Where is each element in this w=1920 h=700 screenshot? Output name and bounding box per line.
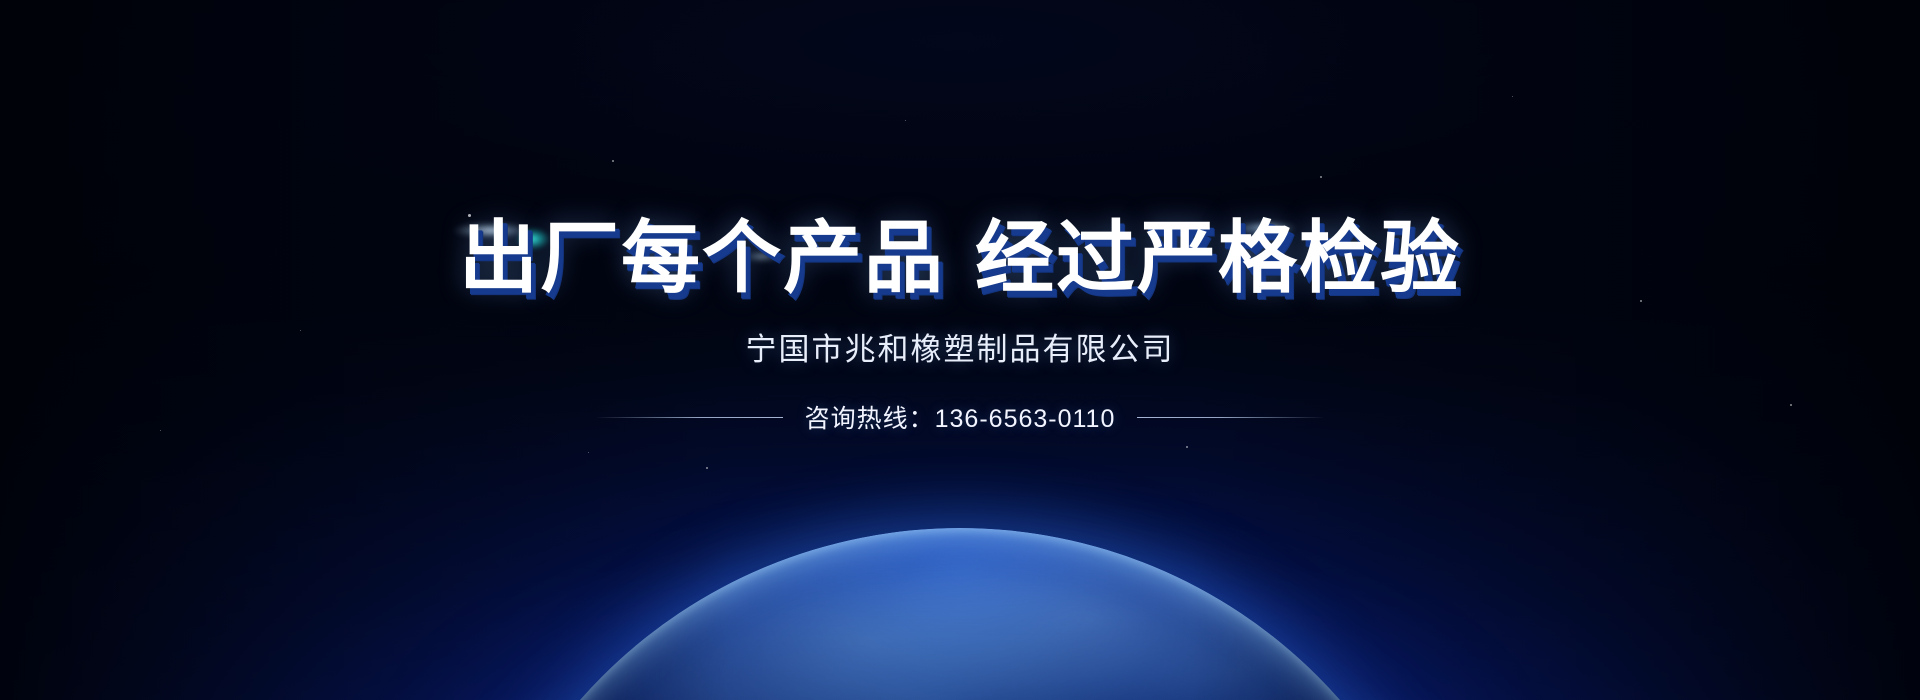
hotline-row: 咨询热线：136-6563-0110 <box>0 369 1920 435</box>
page-title: 出厂每个产品经过严格检验 <box>0 0 1920 297</box>
headline-part-2: 经过严格检验 <box>975 213 1461 302</box>
banner-content: 出厂每个产品经过严格检验 宁国市兆和橡塑制品有限公司 咨询热线：136-6563… <box>0 0 1920 435</box>
hotline-text: 咨询热线：136-6563-0110 <box>805 399 1116 435</box>
star <box>706 467 708 469</box>
divider-line-left <box>597 417 783 418</box>
headline-part-1: 出厂每个产品 <box>459 213 945 302</box>
star <box>588 452 589 453</box>
company-name: 宁国市兆和橡塑制品有限公司 <box>0 297 1920 369</box>
hero-banner: 出厂每个产品经过严格检验 宁国市兆和橡塑制品有限公司 咨询热线：136-6563… <box>0 0 1920 700</box>
star <box>1186 446 1188 448</box>
divider-line-right <box>1137 417 1323 418</box>
